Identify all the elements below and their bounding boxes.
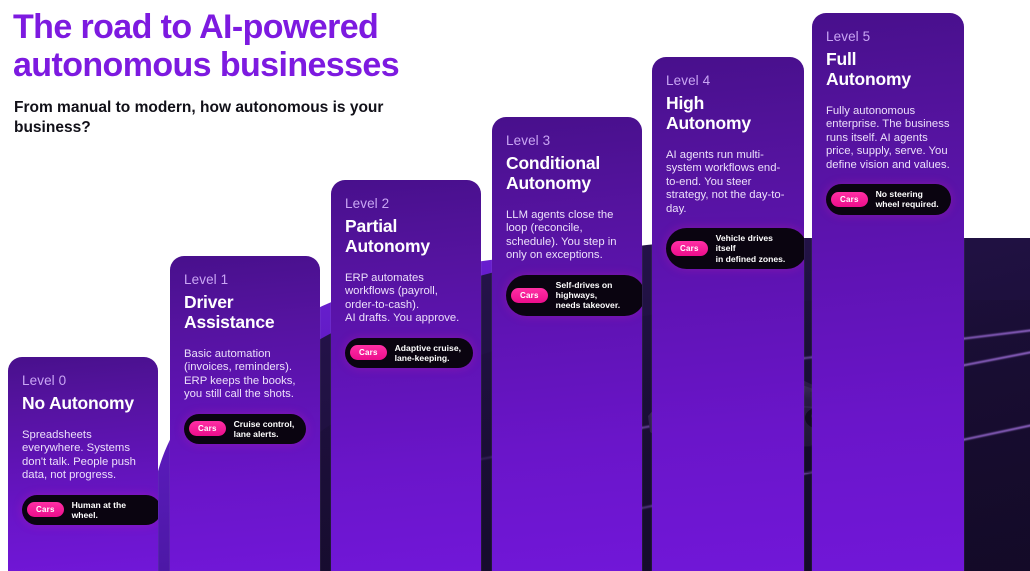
level-card-4-title: High Autonomy [666, 93, 790, 133]
level-card-5-badge: Cars No steering wheel required. [826, 184, 951, 215]
level-card-4[interactable]: Level 4 High Autonomy AI agents run mult… [652, 57, 804, 571]
level-card-0-level: Level 0 [22, 373, 144, 389]
cars-tag-icon: Cars [189, 421, 226, 436]
level-card-5[interactable]: Level 5 Full Autonomy Fully autonomous e… [812, 13, 964, 571]
level-card-1-badge-text: Cruise control, lane alerts. [234, 419, 295, 440]
level-card-1-level: Level 1 [184, 272, 306, 288]
page-subtitle: From manual to modern, how autonomous is… [14, 98, 434, 138]
level-card-3-badge-text: Self-drives on highways, needs takeover. [556, 280, 633, 311]
level-card-3-title: Conditional Autonomy [506, 153, 628, 193]
infographic-canvas: The road to AI-powered autonomous busine… [0, 0, 1030, 571]
cars-tag-icon: Cars [27, 502, 64, 517]
level-card-3-content: Level 3 Conditional Autonomy LLM agents … [492, 117, 642, 316]
level-card-4-level: Level 4 [666, 73, 790, 89]
cars-tag-icon: Cars [511, 288, 548, 303]
level-card-2-level: Level 2 [345, 196, 467, 212]
cars-tag-icon: Cars [671, 241, 708, 256]
level-card-0-badge: Cars Human at the wheel. [22, 495, 158, 526]
level-card-1-description: Basic automation (invoices, reminders). … [184, 348, 306, 402]
level-card-5-badge-text: No steering wheel required. [876, 189, 939, 210]
level-card-2-badge-text: Adaptive cruise, lane-keeping. [395, 343, 461, 364]
level-card-5-content: Level 5 Full Autonomy Fully autonomous e… [812, 13, 964, 215]
level-card-3[interactable]: Level 3 Conditional Autonomy LLM agents … [492, 117, 642, 571]
level-card-2-badge: Cars Adaptive cruise, lane-keeping. [345, 338, 473, 369]
level-card-0-badge-text: Human at the wheel. [72, 500, 149, 521]
level-card-1[interactable]: Level 1 Driver Assistance Basic automati… [170, 256, 320, 571]
level-card-1-content: Level 1 Driver Assistance Basic automati… [170, 256, 320, 444]
level-card-0-title: No Autonomy [22, 393, 144, 413]
level-card-0[interactable]: Level 0 No Autonomy Spreadsheets everywh… [8, 357, 158, 571]
level-card-3-description: LLM agents close the loop (reconcile, sc… [506, 209, 628, 263]
level-card-3-badge: Cars Self-drives on highways, needs take… [506, 275, 642, 316]
level-card-5-description: Fully autonomous enterprise. The busines… [826, 105, 950, 172]
level-card-2[interactable]: Level 2 Partial Autonomy ERP automates w… [331, 180, 481, 571]
level-card-2-content: Level 2 Partial Autonomy ERP automates w… [331, 180, 481, 368]
cars-tag-icon: Cars [831, 192, 868, 207]
level-card-3-level: Level 3 [506, 133, 628, 149]
level-card-5-title: Full Autonomy [826, 49, 950, 89]
level-card-4-content: Level 4 High Autonomy AI agents run mult… [652, 57, 804, 269]
level-card-4-badge: Cars Vehicle drives itself in defined zo… [666, 228, 804, 269]
level-card-1-title: Driver Assistance [184, 292, 306, 332]
cars-tag-icon: Cars [350, 345, 387, 360]
level-card-4-badge-text: Vehicle drives itself in defined zones. [716, 233, 795, 264]
level-card-2-description: ERP automates workflows (payroll, order-… [345, 272, 467, 326]
level-card-0-content: Level 0 No Autonomy Spreadsheets everywh… [8, 357, 158, 525]
level-card-1-badge: Cars Cruise control, lane alerts. [184, 414, 306, 445]
level-card-0-description: Spreadsheets everywhere. Systems don't t… [22, 429, 144, 483]
level-card-2-title: Partial Autonomy [345, 216, 467, 256]
level-card-4-description: AI agents run multi-system workflows end… [666, 149, 790, 216]
level-card-5-level: Level 5 [826, 29, 950, 45]
page-title: The road to AI-powered autonomous busine… [13, 8, 533, 84]
